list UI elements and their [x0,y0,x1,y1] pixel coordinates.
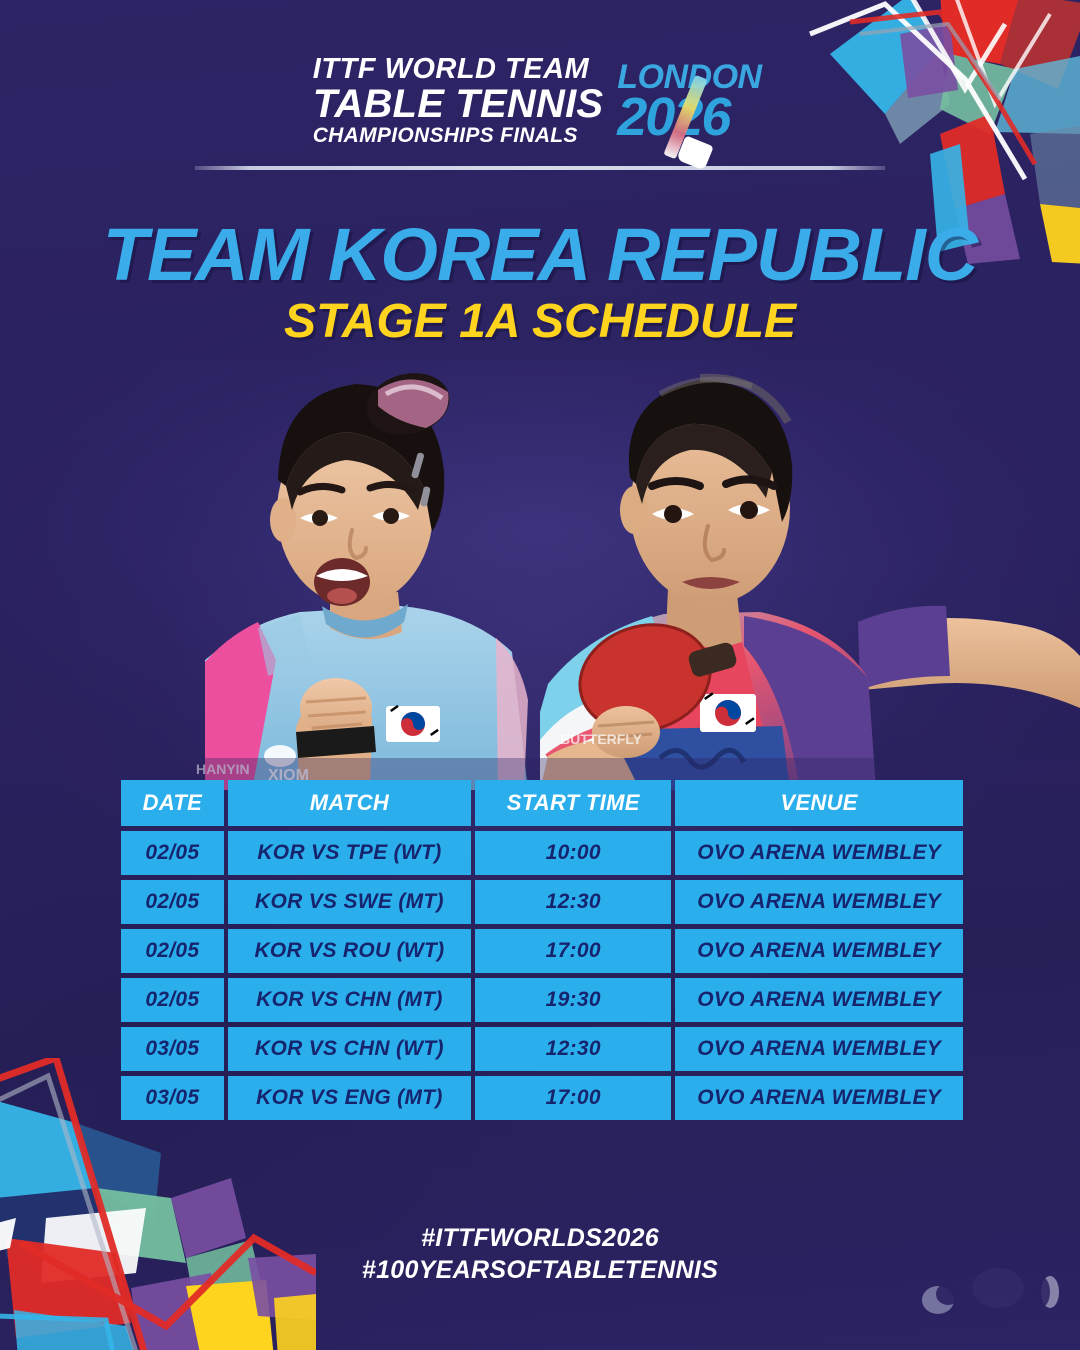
cell-match: KOR VS ROU (WT) [228,929,471,973]
table-row: 03/05 KOR VS ENG (MT) 17:00 OVO ARENA WE… [121,1076,963,1120]
cell-start-time: 12:30 [475,880,671,924]
column-header-match: MATCH [228,780,471,826]
hashtag-primary: #ITTFWORLDS2026 [0,1222,1080,1254]
cell-venue: OVO ARENA WEMBLEY [675,1076,963,1120]
column-header-date: DATE [121,780,224,826]
cell-date: 02/05 [121,831,224,875]
cell-match: KOR VS CHN (WT) [228,1027,471,1071]
page-title: TEAM KOREA REPUBLIC [0,212,1080,297]
cell-venue: OVO ARENA WEMBLEY [675,831,963,875]
table-row: 02/05 KOR VS CHN (MT) 19:30 OVO ARENA WE… [121,978,963,1022]
cell-date: 02/05 [121,978,224,1022]
cell-start-time: 17:00 [475,929,671,973]
cell-date: 02/05 [121,929,224,973]
cell-date: 03/05 [121,1076,224,1120]
cell-date: 02/05 [121,880,224,924]
cell-match: KOR VS SWE (MT) [228,880,471,924]
table-row: 03/05 KOR VS CHN (WT) 12:30 OVO ARENA WE… [121,1027,963,1071]
cell-start-time: 12:30 [475,1027,671,1071]
svg-text:BUTTERFLY: BUTTERFLY [560,731,643,747]
logo-line-1: ITTF WORLD TEAM [313,56,590,84]
athlete-photo-group: XIOM HANYIN [0,360,1080,790]
logo-london-2026: LONDON 2026 [617,56,767,152]
cell-start-time: 17:00 [475,1076,671,1120]
korea-flag-patch-male [700,692,756,732]
cell-match: KOR VS CHN (MT) [228,978,471,1022]
hashtag-secondary: #100YEARSOFTABLETENNIS [0,1254,1080,1286]
logo-divider [195,166,885,170]
korea-flag-patch-female [386,705,440,742]
logo-line-3: CHAMPIONSHIPS FINALS [313,126,578,146]
cell-start-time: 19:30 [475,978,671,1022]
table-row: 02/05 KOR VS TPE (WT) 10:00 OVO ARENA WE… [121,831,963,875]
page-subtitle: STAGE 1A SCHEDULE [0,294,1080,349]
logo-row: ITTF WORLD TEAM TABLE TENNIS CHAMPIONSHI… [313,56,768,152]
event-logo: ITTF WORLD TEAM TABLE TENNIS CHAMPIONSHI… [0,56,1080,170]
cell-date: 03/05 [121,1027,224,1071]
poster-canvas: ITTF WORLD TEAM TABLE TENNIS CHAMPIONSHI… [0,0,1080,1350]
cell-match: KOR VS ENG (MT) [228,1076,471,1120]
logo-wordmark: ITTF WORLD TEAM TABLE TENNIS CHAMPIONSHI… [313,56,604,145]
schedule-table: DATE MATCH START TIME VENUE 02/05 KOR VS… [117,775,967,1125]
logo-line-2: TABLE TENNIS [313,85,604,123]
cell-venue: OVO ARENA WEMBLEY [675,929,963,973]
footer-hashtags: #ITTFWORLDS2026 #100YEARSOFTABLETENNIS [0,1222,1080,1286]
table-row: 02/05 KOR VS SWE (MT) 12:30 OVO ARENA WE… [121,880,963,924]
cell-venue: OVO ARENA WEMBLEY [675,880,963,924]
cell-start-time: 10:00 [475,831,671,875]
table-row: 02/05 KOR VS ROU (WT) 17:00 OVO ARENA WE… [121,929,963,973]
cell-venue: OVO ARENA WEMBLEY [675,978,963,1022]
column-header-venue: VENUE [675,780,963,826]
column-header-start-time: START TIME [475,780,671,826]
cell-match: KOR VS TPE (WT) [228,831,471,875]
cell-venue: OVO ARENA WEMBLEY [675,1027,963,1071]
table-header-row: DATE MATCH START TIME VENUE [121,780,963,826]
